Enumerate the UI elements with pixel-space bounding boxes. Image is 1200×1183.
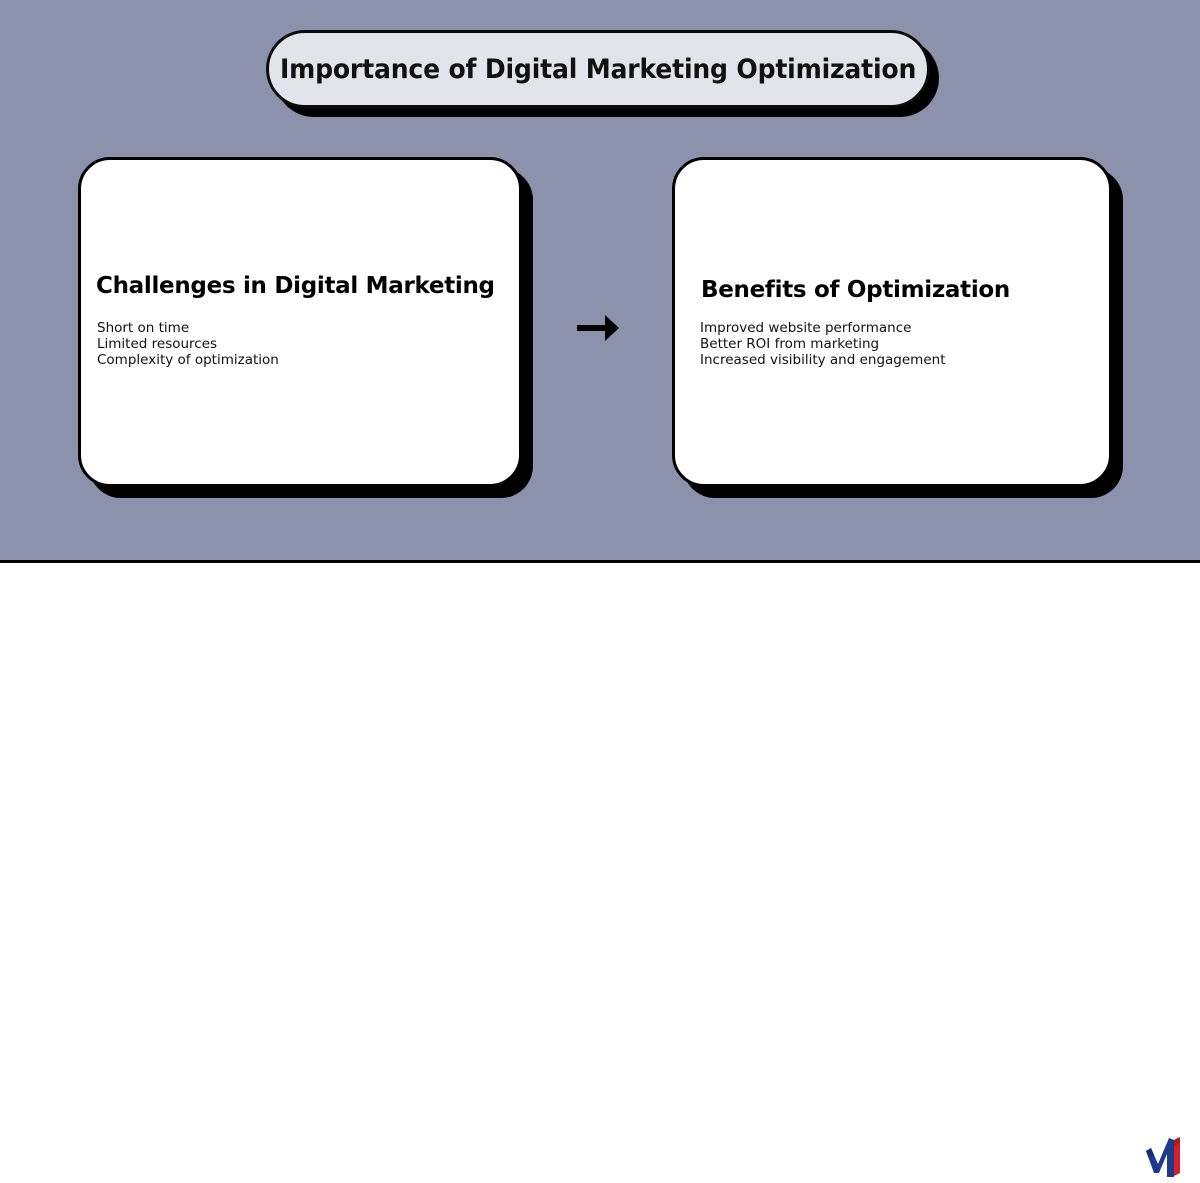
slide-title-pill: Importance of Digital Marketing Optimiza… (266, 30, 930, 108)
arrow-right-icon (570, 302, 626, 354)
page-title: Importance of Digital Marketing Optimiza… (280, 54, 916, 85)
card-challenges-list: Short on time Limited resources Complexi… (97, 320, 279, 368)
card-benefits-content: Benefits of Optimization Improved websit… (675, 160, 1109, 484)
card-benefits: Benefits of Optimization Improved websit… (672, 157, 1112, 487)
card-benefits-list: Improved website performance Better ROI … (700, 320, 946, 368)
card-challenges-heading: Challenges in Digital Marketing (96, 273, 495, 299)
card-challenges-content: Challenges in Digital Marketing Short on… (81, 160, 519, 484)
list-item: Short on time (97, 320, 279, 336)
card-benefits-heading: Benefits of Optimization (701, 277, 1010, 303)
slide-canvas: Importance of Digital Marketing Optimiza… (0, 0, 1200, 630)
list-item: Increased visibility and engagement (700, 352, 946, 368)
list-item: Better ROI from marketing (700, 336, 946, 352)
footer-bar (0, 563, 1200, 630)
card-challenges: Challenges in Digital Marketing Short on… (78, 157, 522, 487)
list-item: Improved website performance (700, 320, 946, 336)
list-item: Complexity of optimization (97, 352, 279, 368)
list-item: Limited resources (97, 336, 279, 352)
brand-logo-m-icon (1138, 1133, 1186, 1183)
